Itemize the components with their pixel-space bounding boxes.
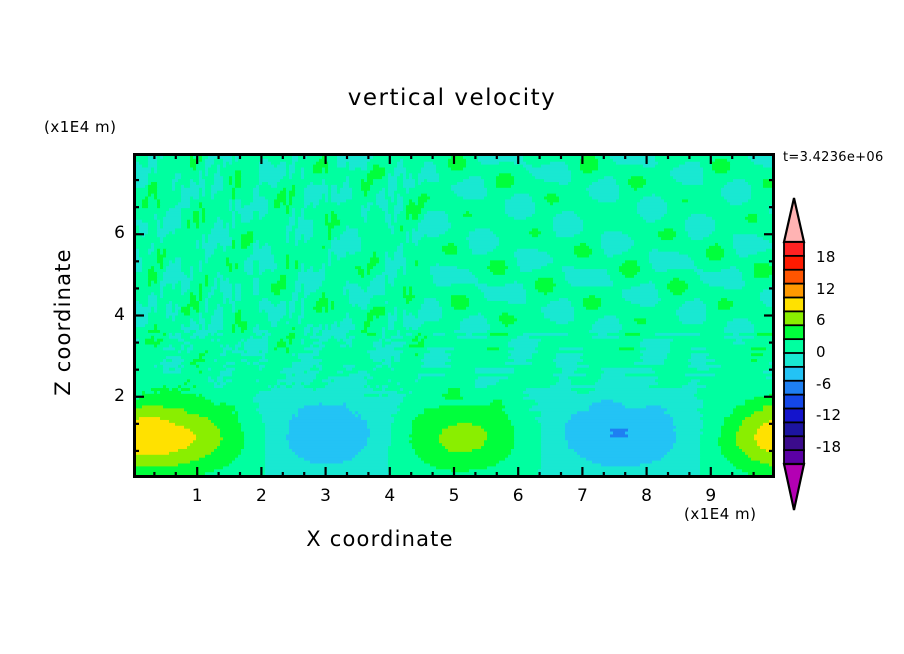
colorbar-label-0: 0 — [816, 343, 826, 361]
x-tick-label-2: 2 — [241, 486, 281, 506]
x-tick-label-7: 7 — [562, 486, 602, 506]
colorbar-label-18: 18 — [816, 248, 836, 266]
x-tick-label-3: 3 — [306, 486, 346, 506]
colorbar-label-6: 6 — [816, 311, 826, 329]
x-tick-label-8: 8 — [627, 486, 667, 506]
colorbar-label-neg6: -6 — [816, 375, 832, 393]
axis-tick-marks — [133, 153, 775, 478]
y-axis-title: Z coordinate — [51, 222, 75, 422]
page-title: vertical velocity — [0, 85, 904, 111]
x-tick-label-6: 6 — [498, 486, 538, 506]
x-axis-title: X coordinate — [0, 527, 760, 551]
colorbar-label-neg18: -18 — [816, 438, 841, 456]
x-tick-label-1: 1 — [177, 486, 217, 506]
x-tick-label-5: 5 — [434, 486, 474, 506]
y-tick-label-2: 2 — [85, 386, 125, 406]
colorbar-label-neg12: -12 — [816, 406, 841, 424]
x-axis-units-label: (x1E4 m) — [684, 505, 757, 523]
colorbar-label-12: 12 — [816, 280, 836, 298]
y-axis-units-label: (x1E4 m) — [44, 118, 117, 136]
y-tick-label-4: 4 — [85, 305, 125, 325]
x-tick-label-9: 9 — [691, 486, 731, 506]
x-tick-label-4: 4 — [370, 486, 410, 506]
timestamp-annotation: t=3.4236e+06 — [783, 150, 884, 165]
figure-canvas: vertical velocity (x1E4 m) (x1E4 m) t=3.… — [0, 0, 904, 654]
y-tick-label-6: 6 — [85, 223, 125, 243]
